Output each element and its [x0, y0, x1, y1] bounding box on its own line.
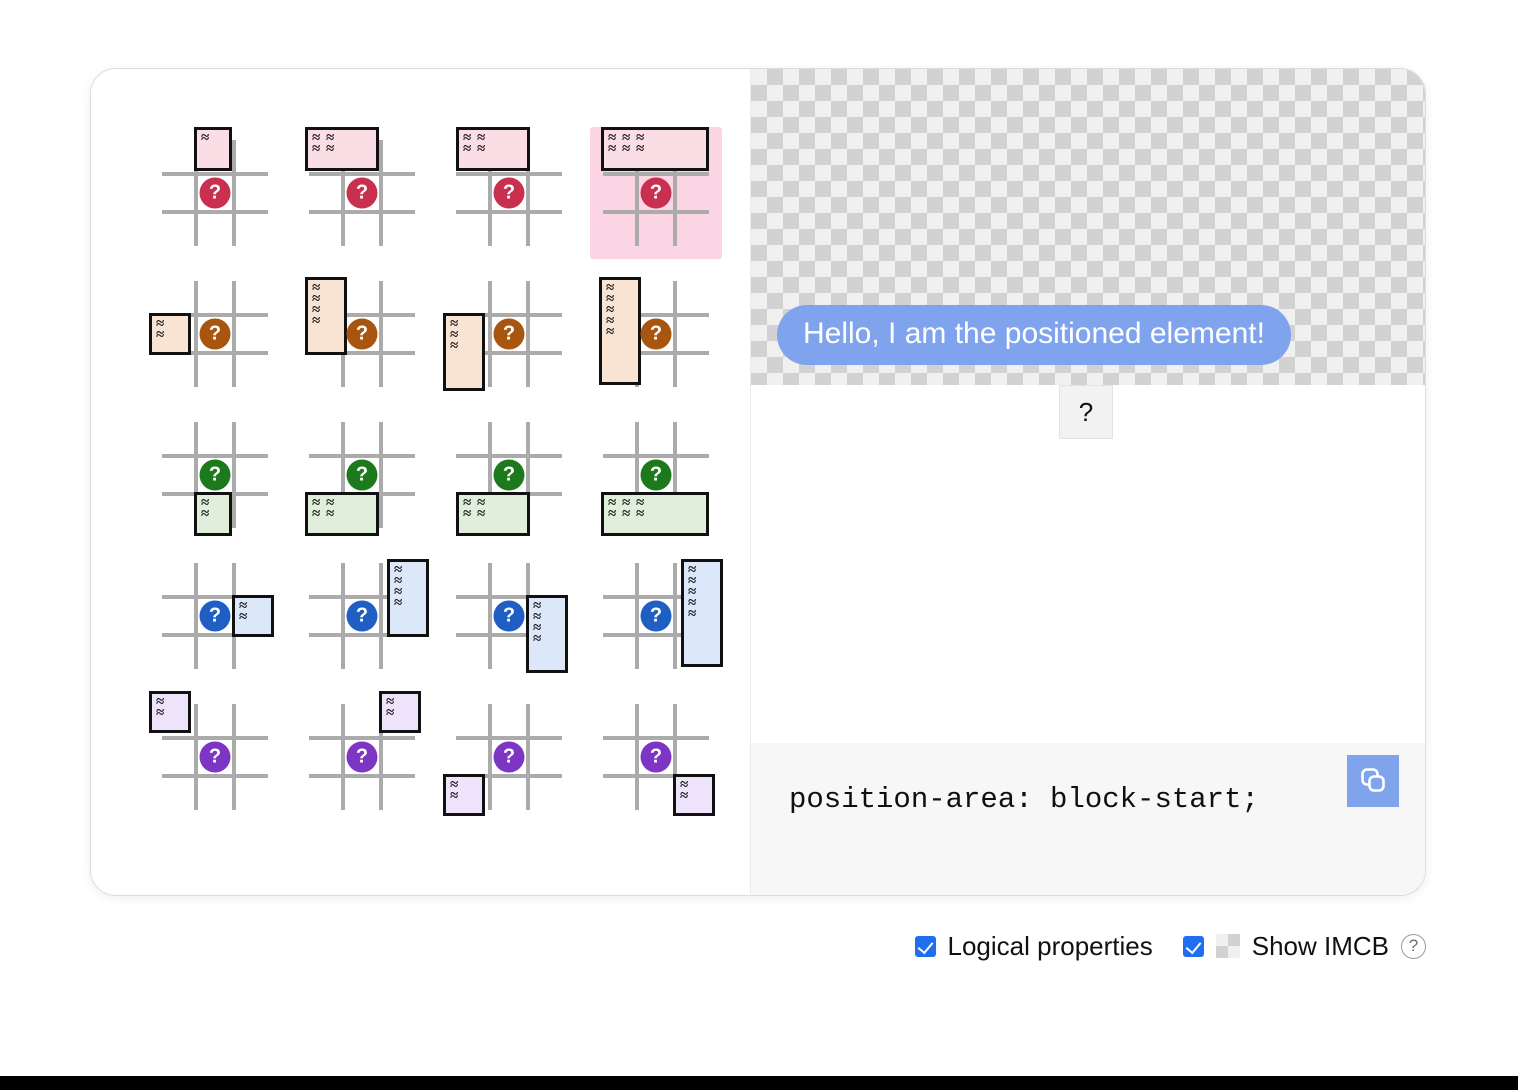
grid-line [456, 736, 562, 740]
option-anchor-marker: ? [641, 319, 672, 350]
position-area-option[interactable]: ≈≈? [443, 691, 575, 823]
logical-properties-checkbox[interactable] [915, 936, 936, 957]
option-anchor-marker: ? [641, 742, 672, 773]
option-box-text-line: ≈ [606, 327, 634, 338]
option-positioned-box: ≈≈≈≈≈ [599, 277, 641, 385]
preview-pane: Hello, I am the positioned element! ? po… [751, 69, 1425, 895]
option-positioned-box: ≈ ≈≈ ≈ [456, 492, 530, 536]
grid-line [635, 563, 639, 669]
option-positioned-box: ≈≈ [443, 774, 485, 816]
option-box-text-line: ≈ [312, 316, 340, 327]
position-area-option[interactable]: ≈≈≈≈? [296, 550, 428, 682]
option-anchor-marker: ? [200, 601, 231, 632]
grid-line [232, 140, 236, 246]
option-box-text-line: ≈ [450, 791, 478, 802]
option-anchor-marker: ? [494, 460, 525, 491]
code-panel: position-area: block-start; [751, 743, 1425, 895]
option-positioned-box: ≈ ≈≈ ≈ [456, 127, 530, 171]
position-area-option[interactable]: ≈≈? [149, 268, 281, 400]
option-box-text-line: ≈ [156, 330, 184, 341]
grid-line [162, 774, 268, 778]
option-box-text-line: ≈ ≈ [463, 509, 523, 520]
option-anchor-marker: ? [494, 319, 525, 350]
grid-line [232, 281, 236, 387]
grid-line [194, 563, 198, 669]
grid-line [309, 736, 415, 740]
grid-line [456, 454, 562, 458]
grid-line [526, 704, 530, 810]
logical-properties-label[interactable]: Logical properties [948, 931, 1153, 962]
option-anchor-marker: ? [200, 742, 231, 773]
grid-line [162, 210, 268, 214]
option-positioned-box: ≈≈ [379, 691, 421, 733]
position-area-option[interactable]: ≈≈≈? [443, 268, 575, 400]
position-area-option[interactable]: ≈≈? [149, 691, 281, 823]
option-positioned-box: ≈≈ [232, 595, 274, 637]
grid-line [379, 563, 383, 669]
option-box-text-line: ≈ [156, 708, 184, 719]
copy-code-button[interactable] [1347, 755, 1399, 807]
grid-line [603, 210, 709, 214]
grid-line [379, 422, 383, 528]
grid-line [309, 774, 415, 778]
option-anchor-marker: ? [347, 319, 378, 350]
option-box-text-line: ≈ [201, 509, 225, 520]
option-anchor-marker: ? [494, 742, 525, 773]
grid-line [194, 704, 198, 810]
position-area-option[interactable]: ≈≈≈≈? [296, 268, 428, 400]
grid-line [341, 563, 345, 669]
option-box-text-line: ≈ ≈ ≈ [608, 144, 702, 155]
option-positioned-box: ≈≈ [673, 774, 715, 816]
code-declaration: position-area: block-start; [789, 783, 1259, 816]
show-imcb-checkbox[interactable] [1183, 936, 1204, 957]
position-area-option[interactable]: ≈ ≈≈ ≈? [296, 409, 428, 541]
grid-line [309, 172, 415, 176]
option-positioned-box: ≈≈ [149, 313, 191, 355]
grid-line [673, 563, 677, 669]
option-positioned-box: ≈ ≈≈ ≈ [305, 127, 379, 171]
grid-line [194, 281, 198, 387]
grid-line [162, 736, 268, 740]
option-positioned-box: ≈≈≈≈ [305, 277, 347, 355]
position-area-option[interactable]: ≈≈? [149, 550, 281, 682]
grid-line [232, 704, 236, 810]
screen-bottom-strip [0, 1076, 1518, 1090]
option-anchor-marker: ? [494, 178, 525, 209]
option-box-text-line: ≈ [533, 634, 561, 645]
option-anchor-marker: ? [347, 460, 378, 491]
option-anchor-marker: ? [347, 601, 378, 632]
option-box-text-line: ≈ [239, 612, 267, 623]
position-area-options-grid: ≈?≈ ≈≈ ≈?≈ ≈≈ ≈?≈ ≈ ≈≈ ≈ ≈?≈≈?≈≈≈≈?≈≈≈?≈… [149, 127, 722, 830]
position-area-option[interactable]: ≈≈≈≈? [443, 550, 575, 682]
grid-line [232, 422, 236, 528]
position-area-option[interactable]: ≈ ≈≈ ≈? [443, 409, 575, 541]
option-box-text-line: ≈ [680, 791, 708, 802]
show-imcb-label[interactable]: Show IMCB [1252, 931, 1389, 962]
position-area-option[interactable]: ≈≈≈≈≈? [590, 550, 722, 682]
grid-line [488, 563, 492, 669]
option-positioned-box: ≈≈≈ [443, 313, 485, 391]
grid-line [379, 140, 383, 246]
option-anchor-marker: ? [200, 178, 231, 209]
option-box-text-line: ≈ [201, 133, 225, 144]
option-box-text-line: ≈ [450, 341, 478, 352]
grid-line [526, 281, 530, 387]
option-box-text-line: ≈ [386, 708, 414, 719]
grid-line [635, 704, 639, 810]
grid-line [341, 704, 345, 810]
option-anchor-marker: ? [494, 601, 525, 632]
option-box-text-line: ≈ ≈ [312, 144, 372, 155]
grid-line [603, 172, 709, 176]
option-positioned-box: ≈≈≈≈≈ [681, 559, 723, 667]
help-icon[interactable]: ? [1401, 934, 1426, 959]
option-positioned-box: ≈≈ [194, 492, 232, 536]
option-box-text-line: ≈ ≈ ≈ [608, 509, 702, 520]
grid-line [309, 210, 415, 214]
grid-line [456, 210, 562, 214]
option-anchor-marker: ? [641, 601, 672, 632]
option-positioned-box: ≈ [194, 127, 232, 171]
position-area-option[interactable]: ≈ ≈≈ ≈? [296, 127, 428, 259]
position-area-option[interactable]: ≈ ≈ ≈≈ ≈ ≈? [590, 409, 722, 541]
grid-line [603, 454, 709, 458]
grid-line [162, 454, 268, 458]
position-area-option[interactable]: ≈≈≈≈≈? [590, 268, 722, 400]
positioned-element-bubble[interactable]: Hello, I am the positioned element! [777, 305, 1291, 365]
position-area-option[interactable]: ≈ ≈ ≈≈ ≈ ≈? [590, 127, 722, 259]
position-area-option[interactable]: ≈ ≈≈ ≈? [443, 127, 575, 259]
footer-controls: Logical properties Show IMCB ? [90, 922, 1426, 970]
grid-line [673, 281, 677, 387]
option-anchor-marker: ? [200, 319, 231, 350]
option-box-text-line: ≈ ≈ [312, 509, 372, 520]
grid-line [379, 281, 383, 387]
position-area-options-pane: ≈?≈ ≈≈ ≈?≈ ≈≈ ≈?≈ ≈ ≈≈ ≈ ≈?≈≈?≈≈≈≈?≈≈≈?≈… [91, 69, 751, 895]
option-positioned-box: ≈≈≈≈ [526, 595, 568, 673]
position-area-option[interactable]: ≈≈? [296, 691, 428, 823]
grid-line [488, 704, 492, 810]
grid-line [309, 454, 415, 458]
option-box-text-line: ≈ [394, 598, 422, 609]
copy-icon [1358, 765, 1388, 798]
option-positioned-box: ≈ ≈≈ ≈ [305, 492, 379, 536]
option-anchor-marker: ? [200, 460, 231, 491]
grid-line [162, 172, 268, 176]
option-anchor-marker: ? [347, 178, 378, 209]
option-positioned-box: ≈ ≈ ≈≈ ≈ ≈ [601, 127, 709, 171]
option-box-text-line: ≈ [688, 609, 716, 620]
visualizer-card: ≈?≈ ≈≈ ≈?≈ ≈≈ ≈?≈ ≈ ≈≈ ≈ ≈?≈≈?≈≈≈≈?≈≈≈?≈… [90, 68, 1426, 896]
option-box-text-line: ≈ ≈ [463, 144, 523, 155]
position-area-option[interactable]: ≈≈? [590, 691, 722, 823]
option-positioned-box: ≈ ≈ ≈≈ ≈ ≈ [601, 492, 709, 536]
option-anchor-marker: ? [641, 178, 672, 209]
option-anchor-marker: ? [347, 742, 378, 773]
position-area-option[interactable]: ≈≈? [149, 409, 281, 541]
option-positioned-box: ≈≈ [149, 691, 191, 733]
grid-line [488, 281, 492, 387]
grid-line [603, 736, 709, 740]
position-area-option[interactable]: ≈? [149, 127, 281, 259]
anchor-element-chip[interactable]: ? [1059, 385, 1113, 439]
grid-line [456, 172, 562, 176]
option-anchor-marker: ? [641, 460, 672, 491]
option-positioned-box: ≈≈≈≈ [387, 559, 429, 637]
imcb-swatch-icon [1216, 934, 1240, 958]
